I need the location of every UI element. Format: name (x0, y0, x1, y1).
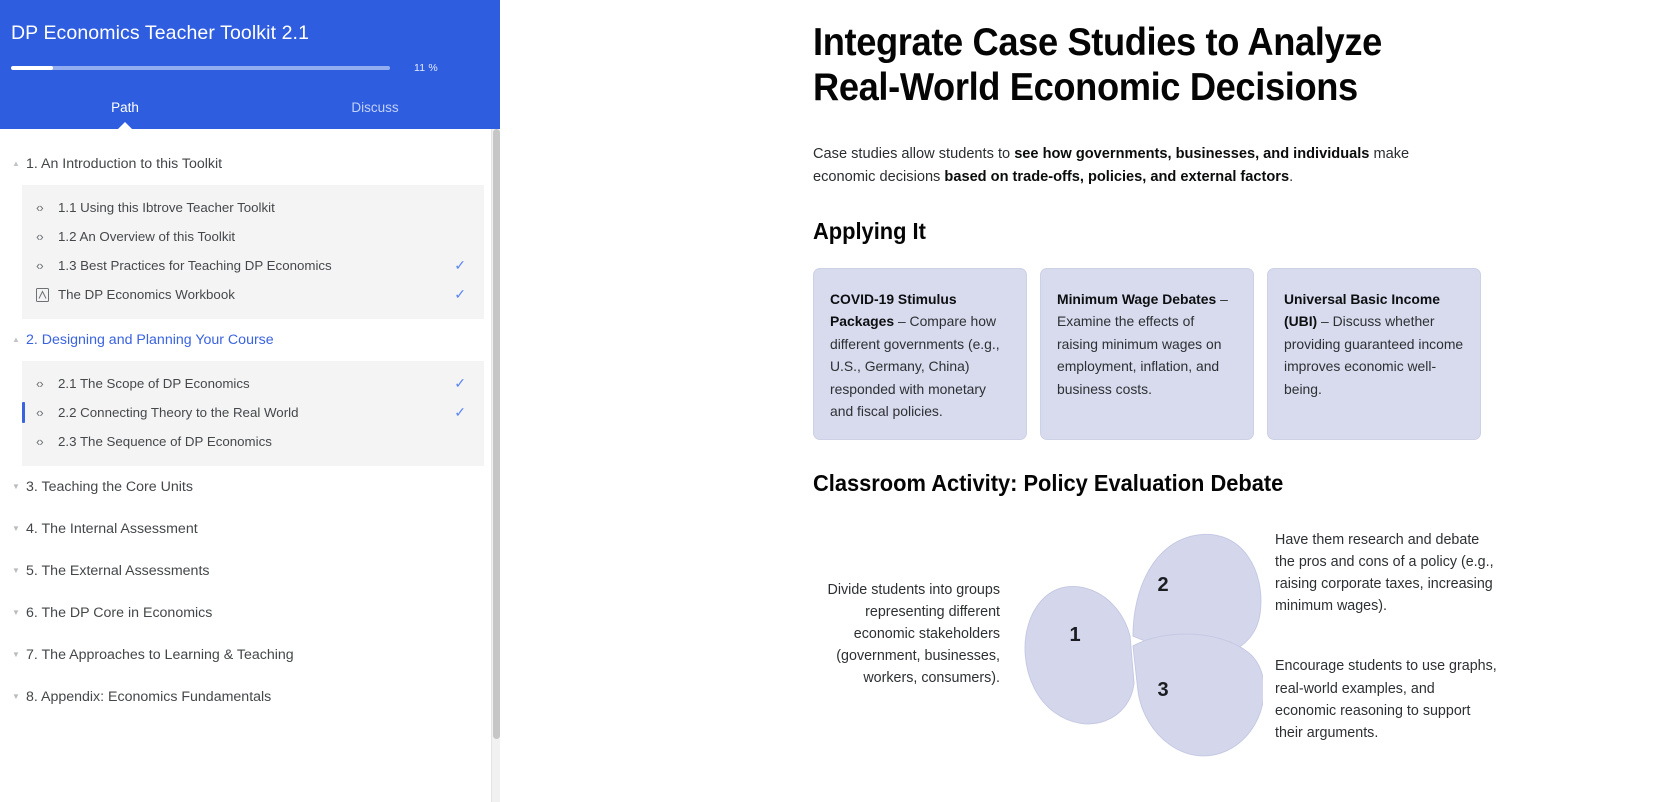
code-icon: ‹› (36, 258, 58, 273)
sidebar-section-6[interactable]: ▼6. The DP Core in Economics (0, 592, 500, 634)
intro-paragraph: Case studies allow students to see how g… (813, 143, 1463, 188)
chevron-down-icon: ▼ (8, 567, 24, 575)
sidebar-section-label: 4. The Internal Assessment (26, 521, 198, 537)
sidebar-item-label: 1.3 Best Practices for Teaching DP Econo… (58, 258, 454, 273)
sidebar-item-label: The DP Economics Workbook (58, 287, 454, 302)
sidebar-section-items: ‹›2.1 The Scope of DP Economics✓‹›2.2 Co… (22, 361, 484, 466)
intro-text-1: Case studies allow students to (813, 146, 1014, 162)
sidebar-section-7[interactable]: ▼7. The Approaches to Learning & Teachin… (0, 634, 500, 676)
sidebar-item[interactable]: ‹›1.3 Best Practices for Teaching DP Eco… (22, 251, 484, 280)
pdf-icon (36, 288, 58, 302)
activity-step-3-text: Encourage students to use graphs, real-w… (1275, 655, 1497, 744)
sidebar-section-4[interactable]: ▼4. The Internal Assessment (0, 508, 500, 550)
sidebar-section-label: 7. The Approaches to Learning & Teaching (26, 647, 294, 663)
chevron-up-icon: ▲ (8, 336, 24, 344)
sidebar-section-3[interactable]: ▼3. Teaching the Core Units (0, 466, 500, 508)
progress-row: 11 % (0, 45, 500, 74)
case-study-card: Minimum Wage Debates – Examine the effec… (1040, 268, 1254, 440)
page-title: Integrate Case Studies to Analyze Real-W… (813, 20, 1427, 110)
intro-bold-1: see how governments, businesses, and ind… (1014, 146, 1369, 162)
sidebar-item[interactable]: ‹›1.2 An Overview of this Toolkit (22, 222, 484, 251)
code-icon: ‹› (36, 200, 58, 215)
code-icon: ‹› (36, 229, 58, 244)
course-outline[interactable]: ▲1. An Introduction to this Toolkit‹›1.1… (0, 129, 500, 802)
chevron-up-icon: ▲ (8, 160, 24, 168)
sidebar-section-2[interactable]: ▲2. Designing and Planning Your Course (0, 319, 500, 361)
progress-bar-fill (11, 66, 53, 70)
sidebar-item[interactable]: The DP Economics Workbook✓ (22, 280, 484, 309)
sidebar-section-label: 8. Appendix: Economics Fundamentals (26, 689, 271, 705)
sidebar-section-items: ‹›1.1 Using this Ibtrove Teacher Toolkit… (22, 185, 484, 319)
completed-check-icon: ✓ (454, 257, 466, 274)
sidebar-tabs: PathDiscuss (0, 100, 500, 129)
activity-right-column: Have them research and debate the pros a… (1263, 511, 1497, 744)
petal-diagram-svg: 1 2 3 (1018, 511, 1263, 761)
chevron-down-icon: ▼ (8, 609, 24, 617)
petal-1-label: 1 (1069, 624, 1080, 646)
completed-check-icon: ✓ (454, 286, 466, 303)
chevron-down-icon: ▼ (8, 651, 24, 659)
sidebar-item[interactable]: ‹›2.3 The Sequence of DP Economics (22, 427, 484, 456)
sidebar-item[interactable]: ‹›1.1 Using this Ibtrove Teacher Toolkit (22, 193, 484, 222)
current-item-indicator (22, 402, 25, 423)
chevron-down-icon: ▼ (8, 525, 24, 533)
sidebar-item-label: 2.2 Connecting Theory to the Real World (58, 405, 454, 420)
completed-check-icon: ✓ (454, 375, 466, 392)
tab-discuss[interactable]: Discuss (250, 100, 500, 129)
app-root: DP Economics Teacher Toolkit 2.1 11 % Pa… (0, 0, 1677, 802)
sidebar-section-8[interactable]: ▼8. Appendix: Economics Fundamentals (0, 676, 500, 718)
petal-3-shape (1133, 634, 1263, 756)
sidebar-item-label: 1.1 Using this Ibtrove Teacher Toolkit (58, 200, 466, 215)
chevron-down-icon: ▼ (8, 693, 24, 701)
petal-3: 3 (1133, 634, 1263, 756)
petal-2-label: 2 (1157, 574, 1168, 596)
petal-3-label: 3 (1157, 679, 1168, 701)
tab-label: Discuss (351, 100, 398, 115)
sidebar-item-label: 2.3 The Sequence of DP Economics (58, 434, 466, 449)
case-study-card: Universal Basic Income (UBI) – Discuss w… (1267, 268, 1481, 440)
sidebar-item-label: 1.2 An Overview of this Toolkit (58, 229, 466, 244)
activity-step-1-text: Divide students into groups representing… (813, 511, 1018, 690)
case-study-card-title: Minimum Wage Debates (1057, 291, 1216, 307)
lesson-content: Integrate Case Studies to Analyze Real-W… (500, 0, 1677, 802)
sidebar-section-label: 6. The DP Core in Economics (26, 605, 212, 621)
code-icon: ‹› (36, 405, 58, 420)
code-icon: ‹› (36, 434, 58, 449)
app-title: DP Economics Teacher Toolkit 2.1 (0, 0, 500, 45)
applying-it-heading: Applying It (813, 218, 1491, 245)
sidebar-item[interactable]: ‹›2.1 The Scope of DP Economics✓ (22, 369, 484, 398)
tab-path[interactable]: Path (0, 100, 250, 129)
sidebar-scrollbar[interactable] (491, 129, 500, 802)
sidebar-item[interactable]: ‹›2.2 Connecting Theory to the Real Worl… (22, 398, 484, 427)
code-icon: ‹› (36, 376, 58, 391)
sidebar-section-5[interactable]: ▼5. The External Assessments (0, 550, 500, 592)
completed-check-icon: ✓ (454, 404, 466, 421)
progress-bar (11, 66, 390, 70)
sidebar-section-label: 2. Designing and Planning Your Course (26, 332, 274, 348)
petal-1: 1 (1025, 586, 1134, 723)
sidebar-section-1[interactable]: ▲1. An Introduction to this Toolkit (0, 143, 500, 185)
petal-diagram: 1 2 3 (1018, 511, 1263, 761)
sidebar-scrollbar-thumb[interactable] (493, 129, 500, 739)
sidebar-header: DP Economics Teacher Toolkit 2.1 11 % Pa… (0, 0, 500, 129)
sidebar-item-label: 2.1 The Scope of DP Economics (58, 376, 454, 391)
course-sidebar: DP Economics Teacher Toolkit 2.1 11 % Pa… (0, 0, 500, 802)
sidebar-section-label: 5. The External Assessments (26, 563, 209, 579)
chevron-down-icon: ▼ (8, 483, 24, 491)
intro-bold-2: based on trade-offs, policies, and exter… (944, 169, 1289, 185)
case-study-card: COVID-19 Stimulus Packages – Compare how… (813, 268, 1027, 440)
case-study-cards: COVID-19 Stimulus Packages – Compare how… (813, 268, 1527, 440)
classroom-activity-heading: Classroom Activity: Policy Evaluation De… (813, 470, 1491, 497)
petal-1-shape (1025, 586, 1134, 723)
tab-label: Path (111, 100, 139, 115)
sidebar-section-label: 3. Teaching the Core Units (26, 479, 193, 495)
activity-step-2-text: Have them research and debate the pros a… (1275, 529, 1497, 618)
progress-percent-label: 11 % (414, 62, 438, 74)
sidebar-section-label: 1. An Introduction to this Toolkit (26, 156, 222, 172)
intro-text-3: . (1289, 169, 1293, 185)
activity-diagram: Divide students into groups representing… (813, 511, 1527, 761)
